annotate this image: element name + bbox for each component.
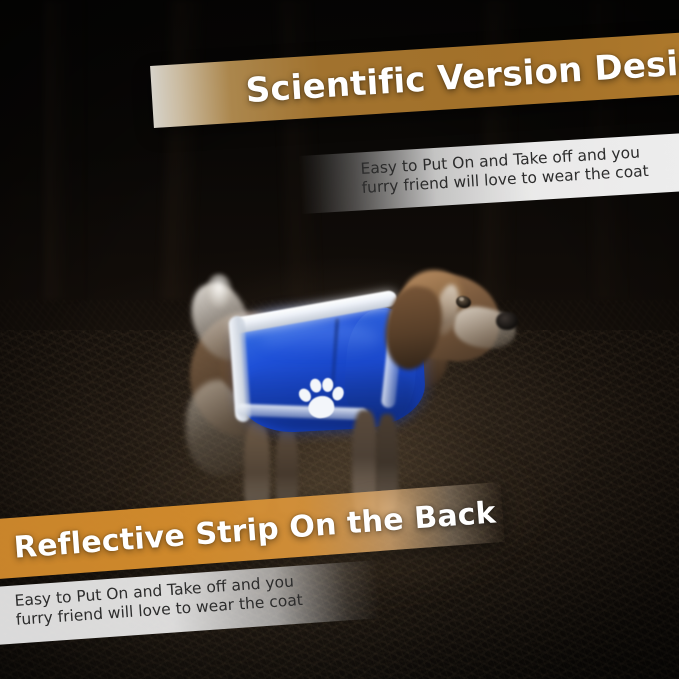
dog-nose [496,312,518,330]
paw-toe [322,378,333,392]
dog-eye-highlight [459,297,464,301]
dog-tail-tip [206,274,232,308]
dog-coat-highlight [260,322,380,356]
paw-print-logo [295,373,347,423]
paw-pad [307,394,336,419]
product-image-canvas: Scientific Version Design Easy to Put On… [0,0,679,679]
paw-toe [309,377,323,393]
